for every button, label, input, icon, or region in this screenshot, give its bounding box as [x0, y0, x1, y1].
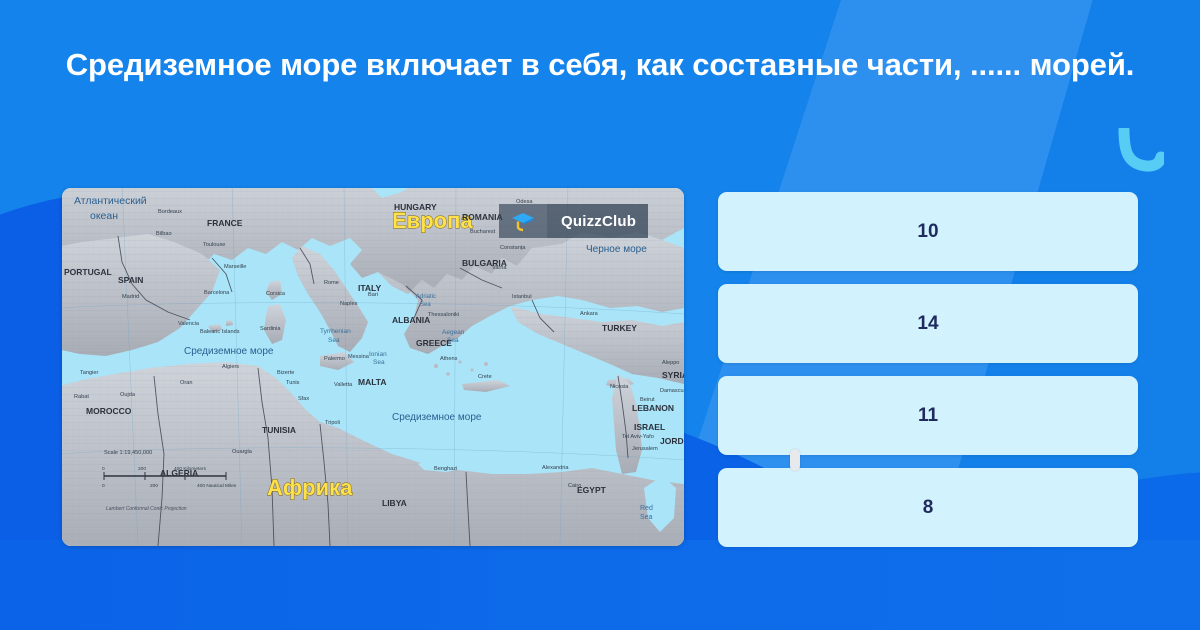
graduation-cap-icon [499, 204, 547, 238]
swoosh-hook-icon [1118, 128, 1164, 174]
answer-options: 10 14 11 8 [718, 192, 1138, 547]
map-city-label: Oran [180, 380, 192, 386]
map-city-label: Aleppo [662, 360, 679, 366]
map-sea-label: Ionian [369, 351, 387, 358]
map-city-label: Varna [492, 265, 507, 271]
map-city-label: Nicosia [610, 384, 629, 390]
map-country-label: FRANCE [207, 218, 243, 228]
map-sea-label: Черное море [586, 244, 647, 255]
map-labels: АтлантическийокеанСредиземное мореСредиз… [62, 188, 684, 546]
map-city-label: Crete [478, 374, 492, 380]
map-city-label: Balearic Islands [200, 329, 240, 335]
map-city-label: Thessaloniki [428, 312, 459, 318]
scrollbar-thumb[interactable] [790, 449, 800, 471]
map-city-label: Bucharest [470, 229, 496, 235]
map-country-label: EGYPT [577, 485, 607, 495]
map-country-label: LEBANON [632, 403, 674, 413]
map-city-label: Alexandria [542, 465, 569, 471]
answer-option-4[interactable]: 8 [718, 468, 1138, 547]
svg-text:200: 200 [150, 483, 158, 489]
map-country-label: TUNISIA [262, 425, 296, 435]
map-sea-label: океан [90, 210, 118, 222]
map-sea-label: Aegean [442, 329, 465, 336]
svg-text:Scale 1:19,450,000: Scale 1:19,450,000 [104, 450, 152, 456]
map-city-label: Corsica [266, 291, 286, 297]
map-country-label: ISRAEL [634, 422, 665, 432]
map-country-label: JORDAN [660, 436, 684, 446]
map-sea-label: Tyrrhenian [320, 328, 351, 335]
map-city-label: Jerusalem [632, 446, 658, 452]
map-city-label: Valletta [334, 382, 353, 388]
background-bottom-band [0, 540, 1200, 630]
map-city-label: Tangier [80, 370, 98, 376]
map-sea-label: Sea [640, 514, 653, 521]
map-city-label: Barcelona [204, 290, 230, 296]
svg-text:400 Kilometers: 400 Kilometers [174, 466, 207, 472]
map-sea-label: Red [640, 505, 653, 512]
map-city-label: Bordeaux [158, 209, 182, 215]
map-country-label: HUNGARY [394, 202, 437, 212]
map-country-label: SYRIA [662, 370, 684, 380]
map-city-label: Marseille [224, 264, 246, 270]
map-country-label: TURKEY [602, 323, 637, 333]
map-country-label: LIBYA [382, 498, 407, 508]
svg-text:400 Nautical Miles: 400 Nautical Miles [197, 483, 237, 489]
map-city-label: Tunis [286, 380, 300, 386]
svg-text:Lambert Conformal Conic Projec: Lambert Conformal Conic Projection [106, 506, 187, 512]
map-city-label: Ouargla [232, 449, 253, 455]
map-city-label: Tel Aviv-Yafo [622, 434, 654, 440]
map-sea-label: Adriatic [416, 294, 436, 300]
map-city-label: Sfax [298, 396, 309, 402]
watermark: QuizzClub [499, 204, 648, 238]
svg-text:0: 0 [102, 483, 105, 489]
svg-text:0: 0 [102, 466, 105, 472]
map-city-label: Algiers [222, 364, 239, 370]
map-country-label: MOROCCO [86, 406, 132, 416]
map-city-label: Sardinia [260, 326, 281, 332]
map-city-label: Rome [324, 280, 339, 286]
answer-option-2[interactable]: 14 [718, 284, 1138, 363]
map-city-label: Rabat [74, 394, 89, 400]
map-sea-label: Sea [420, 302, 431, 308]
map-sea-label: Sea [328, 337, 340, 344]
map-country-label: SPAIN [118, 275, 143, 285]
map-city-label: Istanbul [512, 294, 532, 300]
map-country-label: PORTUGAL [64, 267, 112, 277]
answer-option-1[interactable]: 10 [718, 192, 1138, 271]
map-city-label: Athens [440, 356, 458, 362]
question-text: Средиземное море включает в себя, как со… [60, 44, 1140, 85]
svg-text:200: 200 [138, 466, 146, 472]
map-city-label: Palermo [324, 356, 345, 362]
map-city-label: Oujda [120, 392, 136, 398]
map-scale-bar: Scale 1:19,450,000 0 200 400 Kilometers … [102, 450, 237, 512]
map-city-label: Damascus [660, 388, 684, 394]
map-sea-label: Sea [373, 359, 385, 366]
quiz-card: Средиземное море включает в себя, как со… [0, 0, 1200, 630]
question-image-map: АтлантическийокеанСредиземное мореСредиз… [62, 188, 684, 546]
map-city-label: Messina [348, 354, 370, 360]
map-city-label: Benghazi [434, 466, 457, 472]
map-city-label: Cairo [568, 483, 581, 489]
map-country-label: MALTA [358, 377, 386, 387]
map-sea-label: Средиземное море [392, 412, 482, 423]
map-city-label: Bilbao [156, 231, 172, 237]
map-country-label: ROMANIA [462, 212, 503, 222]
map-city-label: Naples [340, 301, 358, 307]
map-country-label: GREECE [416, 338, 452, 348]
map-city-label: Madrid [122, 294, 139, 300]
map-city-label: Ankara [580, 311, 599, 317]
map-sea-label: Средиземное море [184, 346, 274, 357]
map-region-label: Африка [267, 475, 353, 500]
map-city-label: Toulouse [203, 242, 225, 248]
map-country-label: ALBANIA [392, 315, 430, 325]
answer-option-3[interactable]: 11 [718, 376, 1138, 455]
watermark-brand: QuizzClub [547, 204, 648, 238]
map-city-label: Bizerte [277, 370, 294, 376]
map-city-label: Constanța [500, 245, 526, 251]
map-city-label: Bari [368, 292, 378, 298]
map-city-label: Tripoli [325, 420, 340, 426]
map-city-label: Beirut [640, 397, 655, 403]
map-city-label: Valencia [178, 321, 200, 327]
map-sea-label: Атлантический [74, 195, 147, 207]
